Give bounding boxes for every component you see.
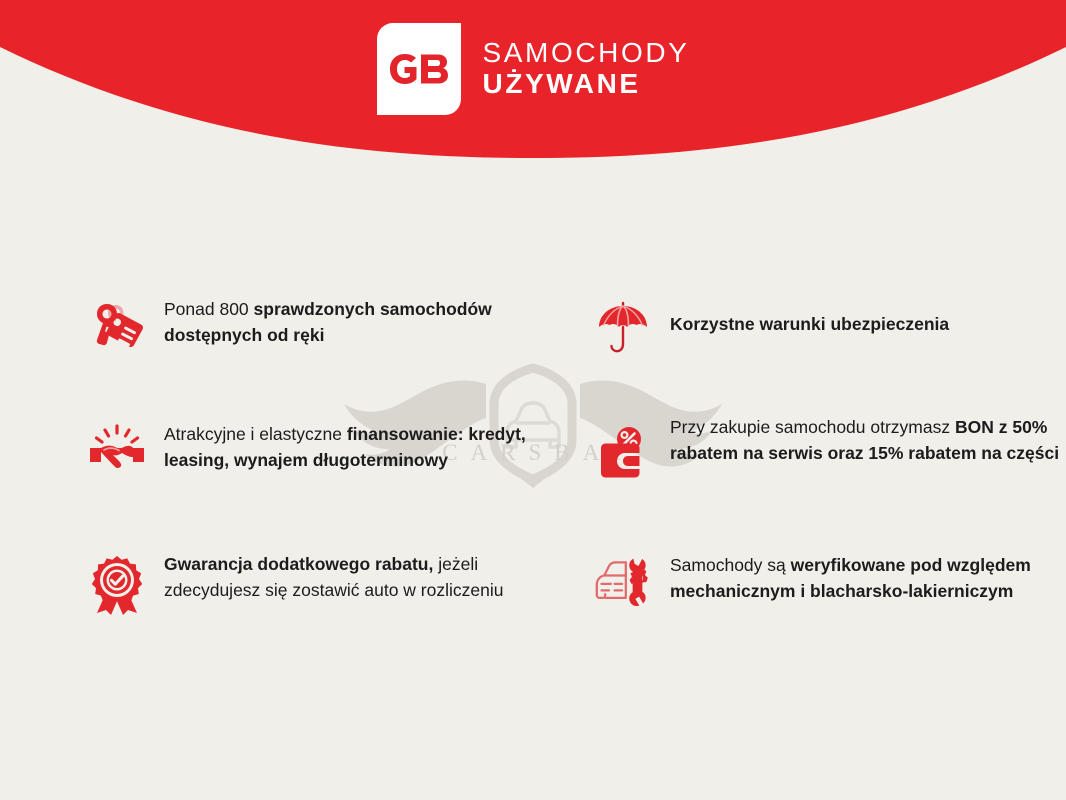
feature-text: Samochody są weryfikowane pod względem m… bbox=[670, 551, 1064, 604]
feature-item-trade-in-discount: Gwarancja dodatkowego rabatu, jeżeli zde… bbox=[88, 551, 564, 651]
feature-item-available-cars: Ponad 800 sprawdzonych samochodów dostęp… bbox=[88, 296, 564, 414]
feature-item-insurance: Korzystne warunki ubezpieczenia bbox=[594, 296, 1064, 414]
umbrella-icon bbox=[594, 296, 652, 354]
feature-text: Korzystne warunki ubezpieczenia bbox=[670, 296, 949, 338]
feature-item-verification: Samochody są weryfikowane pod względem m… bbox=[594, 551, 1064, 651]
wallet-percent-icon bbox=[594, 414, 652, 472]
features-grid: Ponad 800 sprawdzonych samochodów dostęp… bbox=[0, 296, 1066, 651]
gb-logo-mark bbox=[377, 23, 461, 115]
car-wrench-gear-icon bbox=[594, 551, 652, 609]
award-rosette-icon bbox=[88, 551, 146, 609]
logo-line-samochody: SAMOCHODY bbox=[483, 39, 690, 68]
promo-banner: CARSBAT SAMOCHODY UŻYWANE bbox=[0, 0, 1066, 800]
feature-text: Atrakcyjne i elastyczne finansowanie: kr… bbox=[164, 414, 564, 473]
feature-item-financing: Atrakcyjne i elastyczne finansowanie: kr… bbox=[88, 414, 564, 551]
logo-line-uzywane: UŻYWANE bbox=[483, 70, 690, 99]
feature-text: Ponad 800 sprawdzonych samochodów dostęp… bbox=[164, 296, 564, 348]
feature-item-service-voucher: Przy zakupie samochodu otrzymasz BON z 5… bbox=[594, 414, 1064, 551]
feature-text: Przy zakupie samochodu otrzymasz BON z 5… bbox=[670, 414, 1064, 466]
logo-wordmark: SAMOCHODY UŻYWANE bbox=[483, 39, 690, 98]
car-key-tag-icon bbox=[88, 296, 146, 354]
feature-text: Gwarancja dodatkowego rabatu, jeżeli zde… bbox=[164, 551, 564, 603]
header-logo-lockup: SAMOCHODY UŻYWANE bbox=[0, 0, 1066, 160]
handshake-icon bbox=[88, 414, 146, 472]
